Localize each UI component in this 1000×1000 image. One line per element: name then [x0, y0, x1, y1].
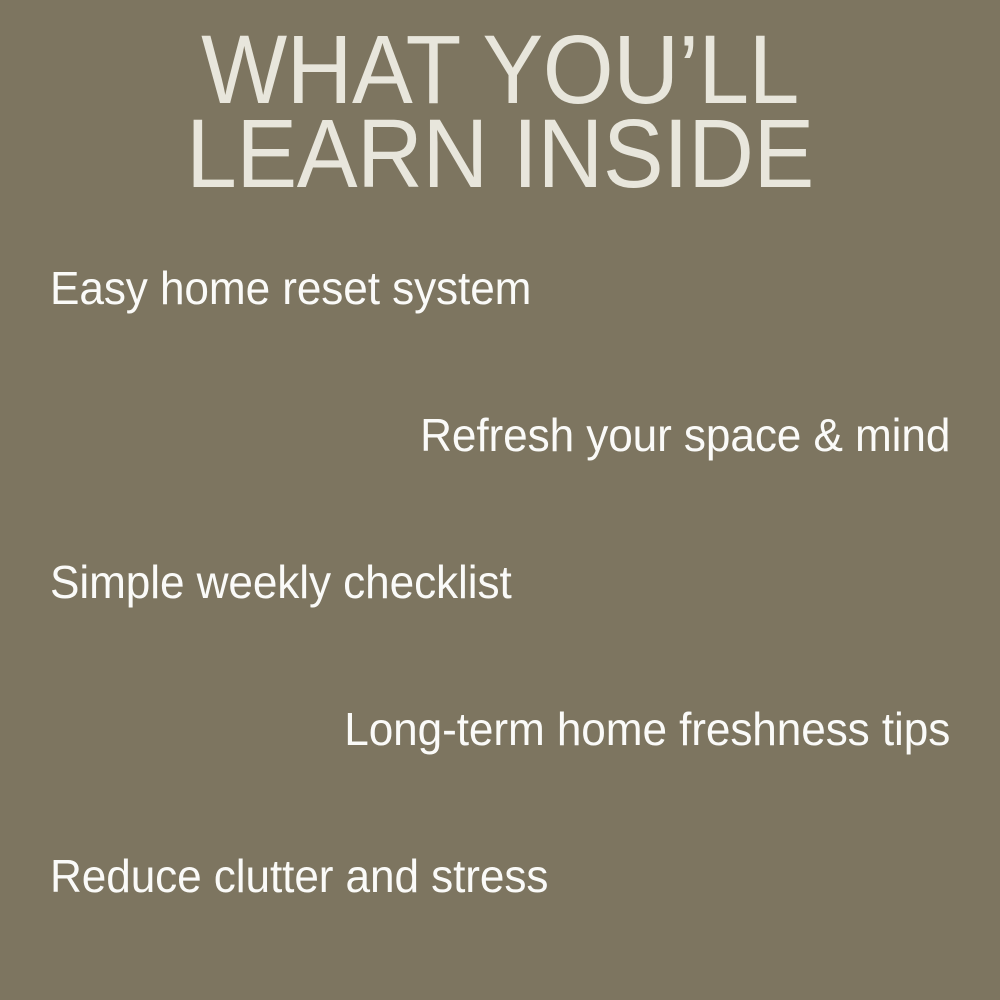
list-item-label: Simple weekly checklist: [50, 552, 512, 612]
list-item: Long-term home freshness tips: [0, 697, 1000, 761]
list-item: Reduce clutter and stress: [0, 844, 1000, 908]
promo-slide: WHAT YOU’LL LEARN INSIDE Easy home reset…: [0, 0, 1000, 1000]
list-item: Simple weekly checklist: [0, 550, 1000, 614]
learning-points-list: Easy home reset system Refresh your spac…: [0, 240, 1000, 940]
list-item: Easy home reset system: [0, 256, 1000, 320]
page-title: WHAT YOU’LL LEARN INSIDE: [0, 28, 1000, 196]
list-item-label: Long-term home freshness tips: [344, 699, 950, 759]
list-item-label: Reduce clutter and stress: [50, 846, 548, 906]
list-item-label: Refresh your space & mind: [420, 405, 950, 465]
list-item: Refresh your space & mind: [0, 403, 1000, 467]
page-title-line-2: LEARN INSIDE: [30, 112, 970, 196]
list-item-label: Easy home reset system: [50, 258, 531, 318]
